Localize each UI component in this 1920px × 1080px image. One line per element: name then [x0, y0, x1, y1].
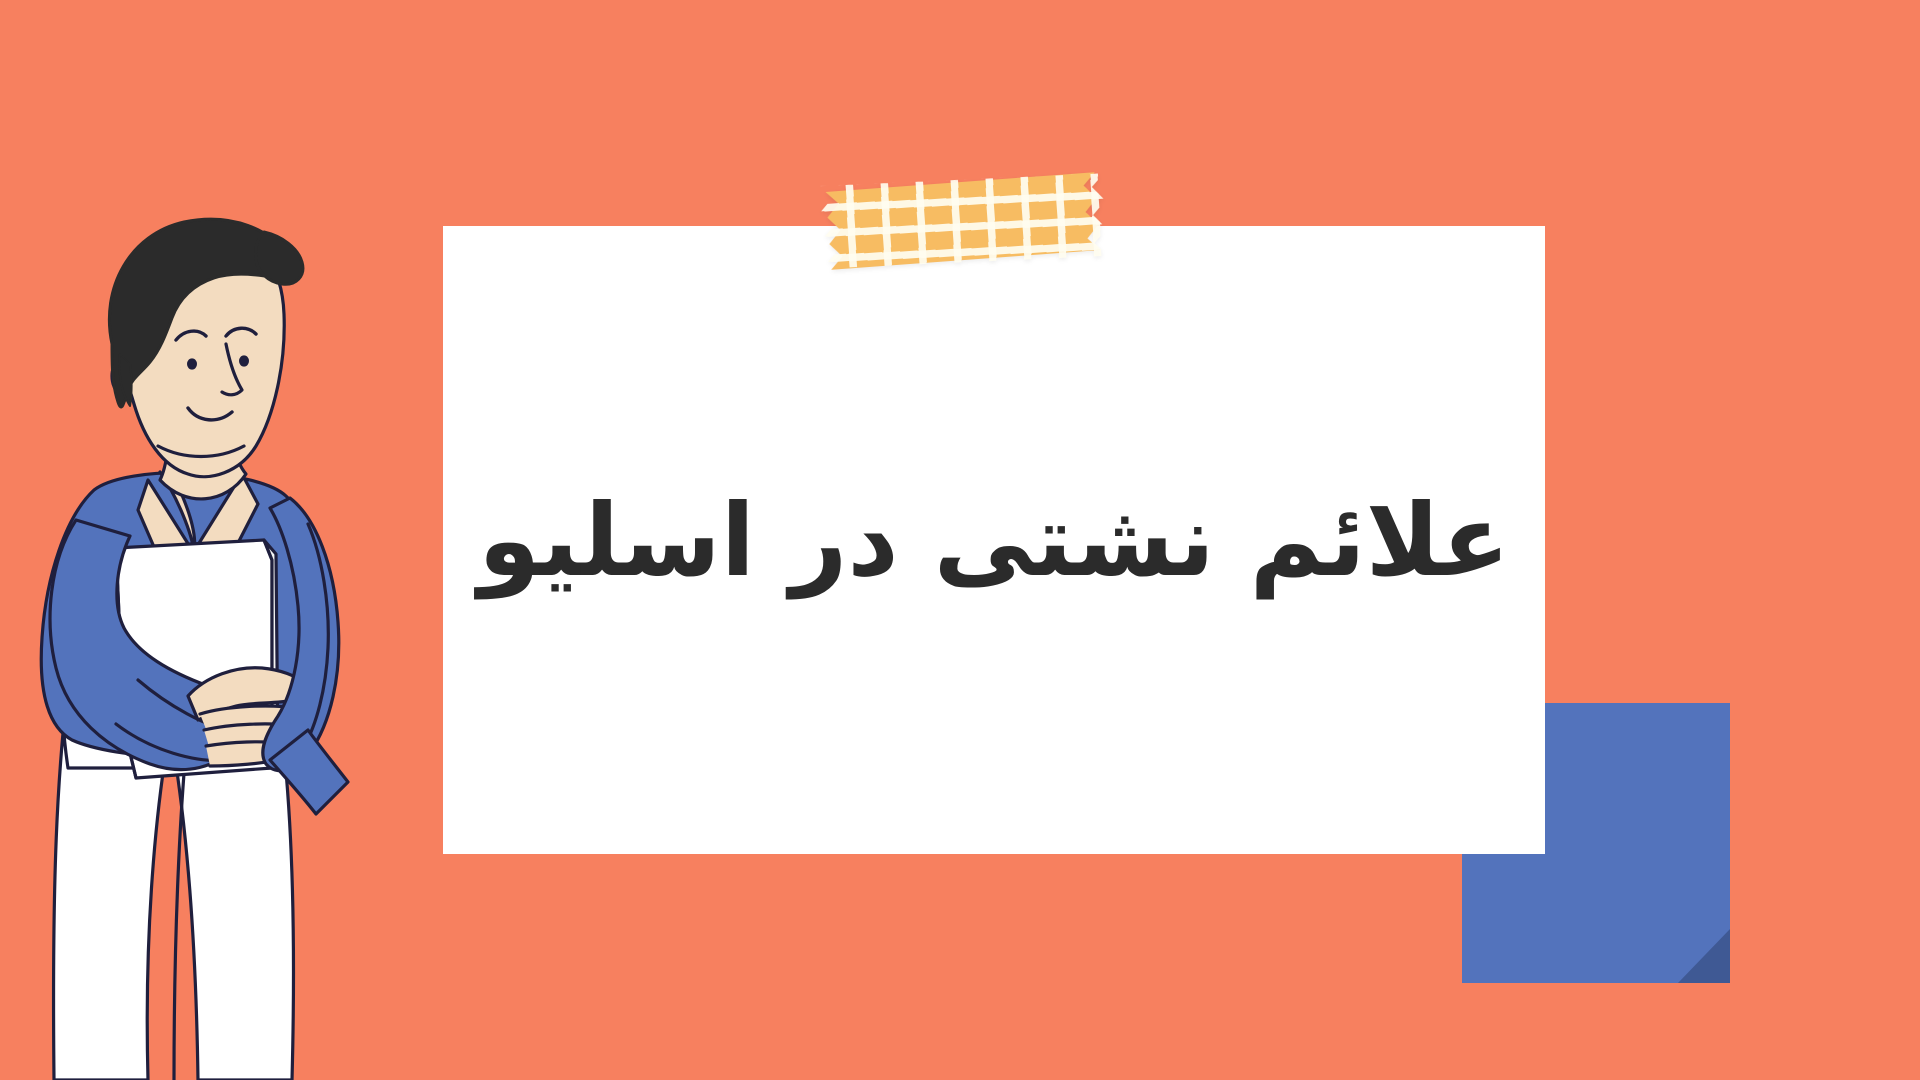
man-holding-book-illustration [20, 168, 440, 1080]
washi-tape-icon [826, 172, 1101, 270]
white-content-card [443, 226, 1545, 854]
eye-left [187, 358, 197, 369]
eye-right [239, 355, 249, 366]
washi-tape-grid-pattern [818, 173, 1108, 269]
slide-canvas: علائم نشتی در اسلیو [0, 0, 1920, 1080]
